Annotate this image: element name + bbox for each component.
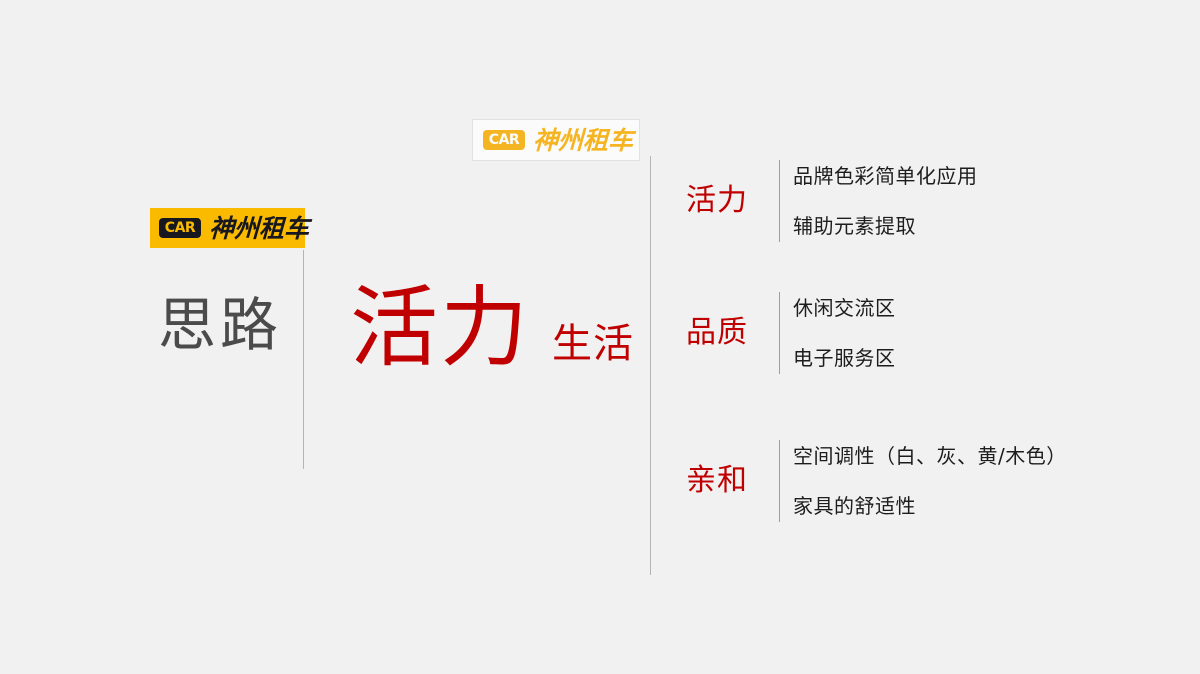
concept-group-2: 品质 休闲交流区 电子服务区 xyxy=(686,292,896,374)
concept-group-items: 品牌色彩简单化应用 辅助元素提取 xyxy=(793,160,978,242)
brand-wordmark: 神州租车 xyxy=(533,128,634,153)
divider-left xyxy=(303,250,304,469)
concept-group-title: 亲和 xyxy=(686,466,764,496)
car-badge-icon: CAR xyxy=(483,130,525,150)
headline-center: 活力 生活 xyxy=(350,284,634,372)
brand-logo-secondary: CAR 神州租车 xyxy=(472,119,640,161)
concept-item: 休闲交流区 xyxy=(793,298,896,318)
brand-wordmark: 神州租车 xyxy=(209,216,310,241)
headline-center-sub: 生活 xyxy=(552,324,634,364)
concept-item: 电子服务区 xyxy=(793,348,896,368)
concept-item: 品牌色彩简单化应用 xyxy=(793,166,978,186)
concept-item: 辅助元素提取 xyxy=(793,216,978,236)
concept-item: 空间调性（白、灰、黄/木色） xyxy=(793,446,1067,466)
slide-canvas: CAR 神州租车 CAR 神州租车 思路 活力 生活 活力 品牌色彩简单化应用 … xyxy=(0,0,1200,674)
brand-logo-primary: CAR 神州租车 xyxy=(150,208,305,248)
concept-group-1: 活力 品牌色彩简单化应用 辅助元素提取 xyxy=(686,160,978,242)
divider-center xyxy=(650,156,651,575)
concept-group-items: 空间调性（白、灰、黄/木色） 家具的舒适性 xyxy=(793,440,1067,522)
car-badge-icon: CAR xyxy=(159,218,201,238)
concept-group-3: 亲和 空间调性（白、灰、黄/木色） 家具的舒适性 xyxy=(686,440,1067,522)
headline-left: 思路 xyxy=(150,296,290,354)
concept-group-title: 品质 xyxy=(686,318,764,348)
concept-group-title: 活力 xyxy=(686,186,764,216)
concept-group-items: 休闲交流区 电子服务区 xyxy=(793,292,896,374)
concept-item: 家具的舒适性 xyxy=(793,496,1067,516)
headline-center-main: 活力 xyxy=(350,284,530,372)
